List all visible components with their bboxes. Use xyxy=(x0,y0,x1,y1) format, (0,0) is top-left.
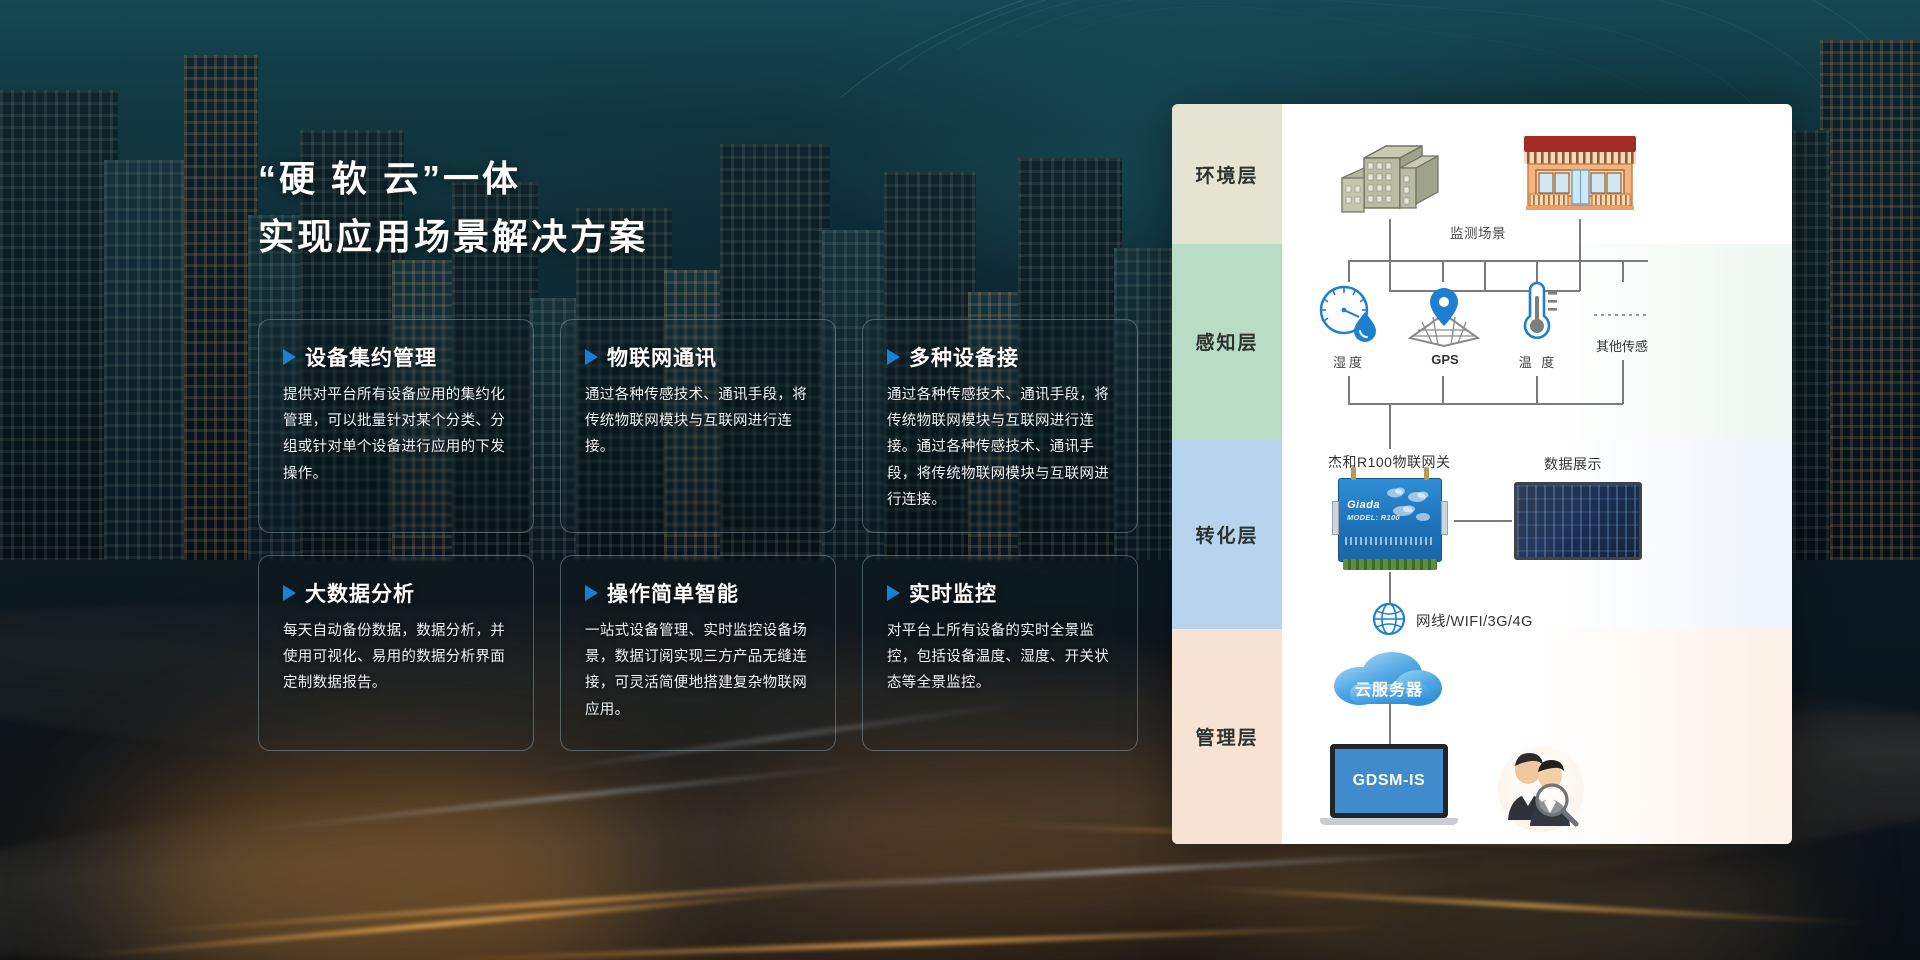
humidity-gauge-icon xyxy=(1316,284,1382,346)
triangle-right-icon xyxy=(283,349,296,365)
card-body: 通过各种传感技术、通讯手段，将传统物联网模块与互联网进行连接。 xyxy=(585,382,811,461)
headline-line-1: “硬 软 云”一体 xyxy=(258,158,521,199)
feature-card-device-management[interactable]: 设备集约管理 提供对平台所有设备应用的集约化管理，可以批量针对某个分类、分组或针… xyxy=(258,319,534,533)
sensor-label-other: 其他传感 xyxy=(1582,336,1662,355)
sensor-label-humidity: 湿度 xyxy=(1318,352,1380,371)
connector-cloud-down xyxy=(1389,702,1391,746)
card-body: 对平台上所有设备的实时全景监控，包括设备温度、湿度、开关状态等全景监控。 xyxy=(887,618,1113,697)
feature-card-realtime-monitoring[interactable]: 实时监控 对平台上所有设备的实时全景监控，包括设备温度、湿度、开关状态等全景监控… xyxy=(862,555,1138,751)
user-magnifier-icon xyxy=(1504,750,1580,828)
card-title: 大数据分析 xyxy=(305,578,415,608)
network-label: 网线/WIFI/3G/4G xyxy=(1416,610,1533,631)
gateway-brand: Giada xyxy=(1347,499,1380,511)
connector-sensor-top-bus xyxy=(1348,260,1648,262)
cloud-label: 云服务器 xyxy=(1330,676,1448,700)
card-body: 通过各种传感技术、通讯手段，将传统物联网模块与互联网进行连接。通过各种传感技术、… xyxy=(887,382,1113,514)
dashboard-screen-icon xyxy=(1514,482,1642,560)
connector-gateway-to-display xyxy=(1454,520,1512,522)
triangle-right-icon xyxy=(283,585,296,601)
connector-bus-to-gateway xyxy=(1389,403,1391,449)
headline-line-2: 实现应用场景解决方案 xyxy=(258,208,1150,266)
feature-card-multi-device-access[interactable]: 多种设备接 通过各种传感技术、通讯手段，将传统物联网模块与互联网进行连接。通过各… xyxy=(862,319,1138,533)
layer-label-sensing: 感知层 xyxy=(1172,244,1282,439)
connector-humidity-down xyxy=(1348,376,1350,404)
connector-sensor-stub-4 xyxy=(1622,260,1624,282)
architecture-diagram-panel: 环境层 感知层 转化层 管理层 xyxy=(1172,104,1792,844)
dotted-ellipsis-icon xyxy=(1594,314,1648,316)
monitoring-scene-label: 监测场景 xyxy=(1450,222,1506,242)
connector-env-to-sensors xyxy=(1484,260,1486,292)
card-title: 实时监控 xyxy=(909,578,997,608)
map-pin-icon xyxy=(1406,286,1482,348)
card-header: 大数据分析 xyxy=(283,578,509,608)
laptop-display: GDSM-IS xyxy=(1330,744,1448,818)
gateway-label: 杰和R100物联网关 xyxy=(1328,452,1450,472)
triangle-right-icon xyxy=(887,585,900,601)
connector-sensor-stub-2 xyxy=(1442,260,1444,282)
card-header: 操作简单智能 xyxy=(585,578,811,608)
feature-card-grid: 设备集约管理 提供对平台所有设备应用的集约化管理，可以批量针对某个分类、分组或针… xyxy=(258,319,1150,751)
triangle-right-icon xyxy=(887,349,900,365)
terminal-label: GDSM-IS xyxy=(1353,772,1426,790)
layer-label-conversion: 转化层 xyxy=(1172,439,1282,629)
sensor-label-gps: GPS xyxy=(1410,352,1480,367)
card-header: 物联网通讯 xyxy=(585,342,811,372)
connector-building-down xyxy=(1389,219,1391,291)
layer-label-management: 管理层 xyxy=(1172,629,1282,844)
laptop-base xyxy=(1320,818,1458,825)
laptop-icon: GDSM-IS xyxy=(1330,744,1448,832)
card-header: 多种设备接 xyxy=(887,342,1113,372)
connector-store-down xyxy=(1579,219,1581,291)
feature-card-big-data-analysis[interactable]: 大数据分析 每天自动备份数据，数据分析，并使用可视化、易用的数据分析界面定制数据… xyxy=(258,555,534,751)
data-display-label: 数据展示 xyxy=(1544,454,1602,474)
thermometer-icon xyxy=(1510,280,1566,346)
connector-other-down xyxy=(1622,360,1624,404)
storefront-icon xyxy=(1518,134,1642,218)
layer-legend-column: 环境层 感知层 转化层 管理层 xyxy=(1172,104,1282,844)
connector-gps-down xyxy=(1442,376,1444,404)
triangle-right-icon xyxy=(585,585,598,601)
card-body: 一站式设备管理、实时监控设备场景，数据订阅实现三方产品无缝连接，可灵活简便地搭建… xyxy=(585,618,811,724)
feature-card-simple-operation[interactable]: 操作简单智能 一站式设备管理、实时监控设备场景，数据订阅实现三方产品无缝连接，可… xyxy=(560,555,836,751)
card-header: 设备集约管理 xyxy=(283,342,509,372)
left-content: “硬 软 云”一体 实现应用场景解决方案 设备集约管理 提供对平台所有设备应用的… xyxy=(0,0,1150,960)
office-building-icon xyxy=(1334,132,1446,218)
card-title: 设备集约管理 xyxy=(305,342,437,372)
page-title: “硬 软 云”一体 实现应用场景解决方案 xyxy=(258,150,1150,267)
card-title: 物联网通讯 xyxy=(607,342,717,372)
card-body: 提供对平台所有设备应用的集约化管理，可以批量针对某个分类、分组或针对单个设备进行… xyxy=(283,382,509,488)
card-title: 多种设备接 xyxy=(909,342,1019,372)
layer-label-environment: 环境层 xyxy=(1172,104,1282,244)
diagram-canvas: 监测场景 湿度 xyxy=(1282,104,1792,844)
card-title: 操作简单智能 xyxy=(607,578,739,608)
card-body: 每天自动备份数据，数据分析，并使用可视化、易用的数据分析界面定制数据报告。 xyxy=(283,618,509,697)
feature-card-iot-communication[interactable]: 物联网通讯 通过各种传感技术、通讯手段，将传统物联网模块与互联网进行连接。 xyxy=(560,319,836,533)
connector-sensor-stub-3 xyxy=(1536,260,1538,282)
globe-icon xyxy=(1372,602,1406,636)
connector-temp-down xyxy=(1536,376,1538,404)
connector-sensor-stub-1 xyxy=(1348,260,1350,282)
card-header: 实时监控 xyxy=(887,578,1113,608)
triangle-right-icon xyxy=(585,349,598,365)
iot-gateway-device-icon: Giada MODEL: R100 xyxy=(1338,478,1442,562)
sensor-label-temperature: 温 度 xyxy=(1506,352,1570,371)
